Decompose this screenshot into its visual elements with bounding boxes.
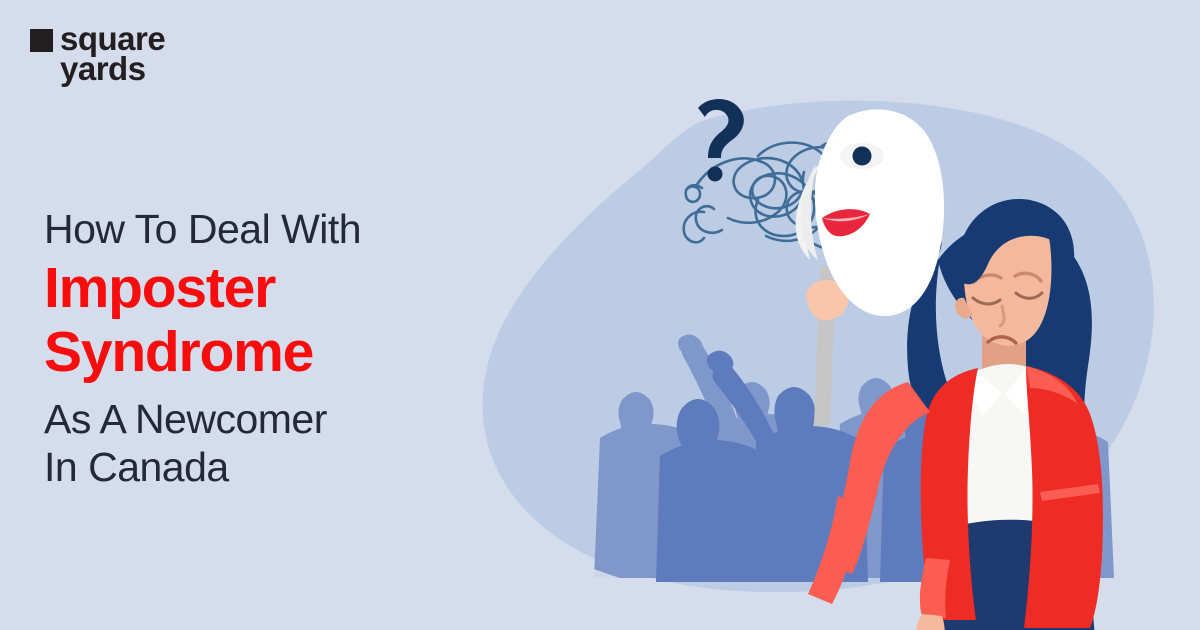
logo-line-yards: yards	[60, 54, 165, 84]
headline-line-2: Imposter	[44, 257, 514, 321]
mask-eye	[853, 147, 872, 166]
logo-wordmark: square yards	[60, 24, 165, 85]
headline-line-4: As A Newcomer	[44, 395, 514, 443]
hand-lower	[916, 614, 945, 630]
logo[interactable]: square yards	[30, 24, 165, 85]
headline-block: How To Deal With Imposter Syndrome As A …	[44, 205, 514, 492]
illustration-svg	[470, 60, 1170, 630]
headline-line-5: In Canada	[44, 443, 514, 491]
headline-line-1: How To Deal With	[44, 205, 514, 253]
black-square-icon	[30, 29, 53, 52]
headline-line-3: Syndrome	[44, 321, 514, 385]
banner-image: square yards How To Deal With Imposter S…	[0, 0, 1200, 630]
illustration	[470, 60, 1170, 630]
woman-figure	[796, 109, 1103, 630]
